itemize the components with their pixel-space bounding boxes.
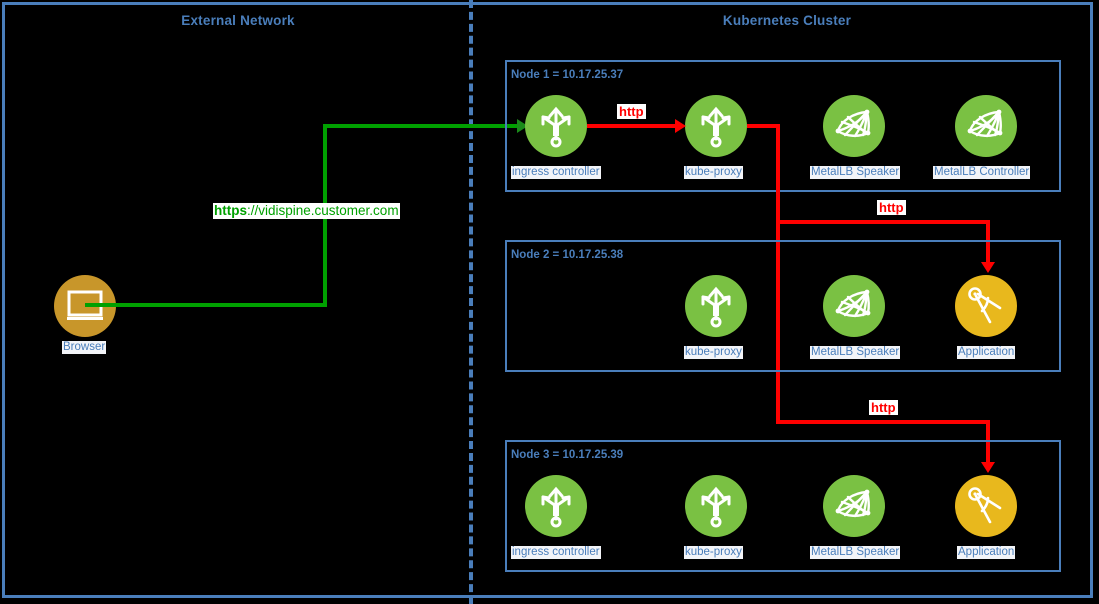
http-label-node3: http: [869, 400, 898, 415]
pod-kube-proxy-node1[interactable]: [685, 95, 747, 157]
mesh-net-icon: [965, 107, 1007, 145]
https-edge-horizontal-upper: [323, 124, 525, 128]
http-label-node2: http: [877, 200, 906, 215]
network-boundary-divider: [469, 0, 473, 604]
trident-routing-icon: [696, 484, 736, 528]
node-1-label: Node 1 = 10.17.25.37: [511, 69, 623, 81]
pod-application-node3[interactable]: [955, 475, 1017, 537]
http-edge-node1: [587, 124, 679, 128]
node-2-label: Node 2 = 10.17.25.38: [511, 249, 623, 261]
compass-icon: [964, 484, 1008, 528]
http-label-node1: http: [617, 104, 646, 119]
pod-caption-metallb-speaker-node2: MetalLB Speaker: [810, 346, 900, 359]
pod-metallb-controller-node1[interactable]: [955, 95, 1017, 157]
trident-routing-icon: [696, 284, 736, 328]
pod-caption-metallb-speaker-node3: MetalLB Speaker: [810, 546, 900, 559]
trident-routing-icon: [536, 104, 576, 148]
pod-caption-metallb-controller-node1: MetalLB Controller: [933, 166, 1030, 179]
http-edge-branch-node2: [776, 220, 990, 224]
pod-metallb-speaker-node3[interactable]: [823, 475, 885, 537]
https-host: ://vidispine.customer.com: [247, 203, 399, 218]
https-edge-horizontal-lower: [85, 303, 327, 307]
http-arrowhead-node1: [675, 119, 686, 133]
pod-application-node2[interactable]: [955, 275, 1017, 337]
pod-caption-kube-proxy-node3: kube-proxy: [684, 546, 743, 559]
browser-caption: Browser: [62, 341, 106, 354]
node-3-label: Node 3 = 10.17.25.39: [511, 449, 623, 461]
external-network-title: External Network: [173, 13, 303, 28]
mesh-net-icon: [833, 107, 875, 145]
pod-caption-application-node3: Application: [957, 546, 1015, 559]
trident-routing-icon: [696, 104, 736, 148]
pod-caption-ingress-controller-node1: ingress controller: [511, 166, 601, 179]
kubernetes-cluster-title: Kubernetes Cluster: [712, 13, 862, 28]
pod-caption-kube-proxy-node2: kube-proxy: [684, 346, 743, 359]
https-scheme: https: [214, 203, 247, 218]
pod-caption-kube-proxy-node1: kube-proxy: [684, 166, 743, 179]
pod-caption-application-node2: Application: [957, 346, 1015, 359]
trident-routing-icon: [536, 484, 576, 528]
diagram-canvas: External Network Kubernetes Cluster Brow…: [0, 0, 1099, 604]
pod-ingress-controller-node3[interactable]: [525, 475, 587, 537]
pod-kube-proxy-node3[interactable]: [685, 475, 747, 537]
http-edge-branch-node3: [776, 420, 990, 424]
pod-kube-proxy-node2[interactable]: [685, 275, 747, 337]
pod-metallb-speaker-node2[interactable]: [823, 275, 885, 337]
https-url-label: https://vidispine.customer.com: [213, 203, 400, 219]
mesh-net-icon: [833, 287, 875, 325]
pod-caption-metallb-speaker-node1: MetalLB Speaker: [810, 166, 900, 179]
pod-ingress-controller-node1[interactable]: [525, 95, 587, 157]
compass-icon: [964, 284, 1008, 328]
mesh-net-icon: [833, 487, 875, 525]
pod-metallb-speaker-node1[interactable]: [823, 95, 885, 157]
pod-caption-ingress-controller-node3: ingress controller: [511, 546, 601, 559]
